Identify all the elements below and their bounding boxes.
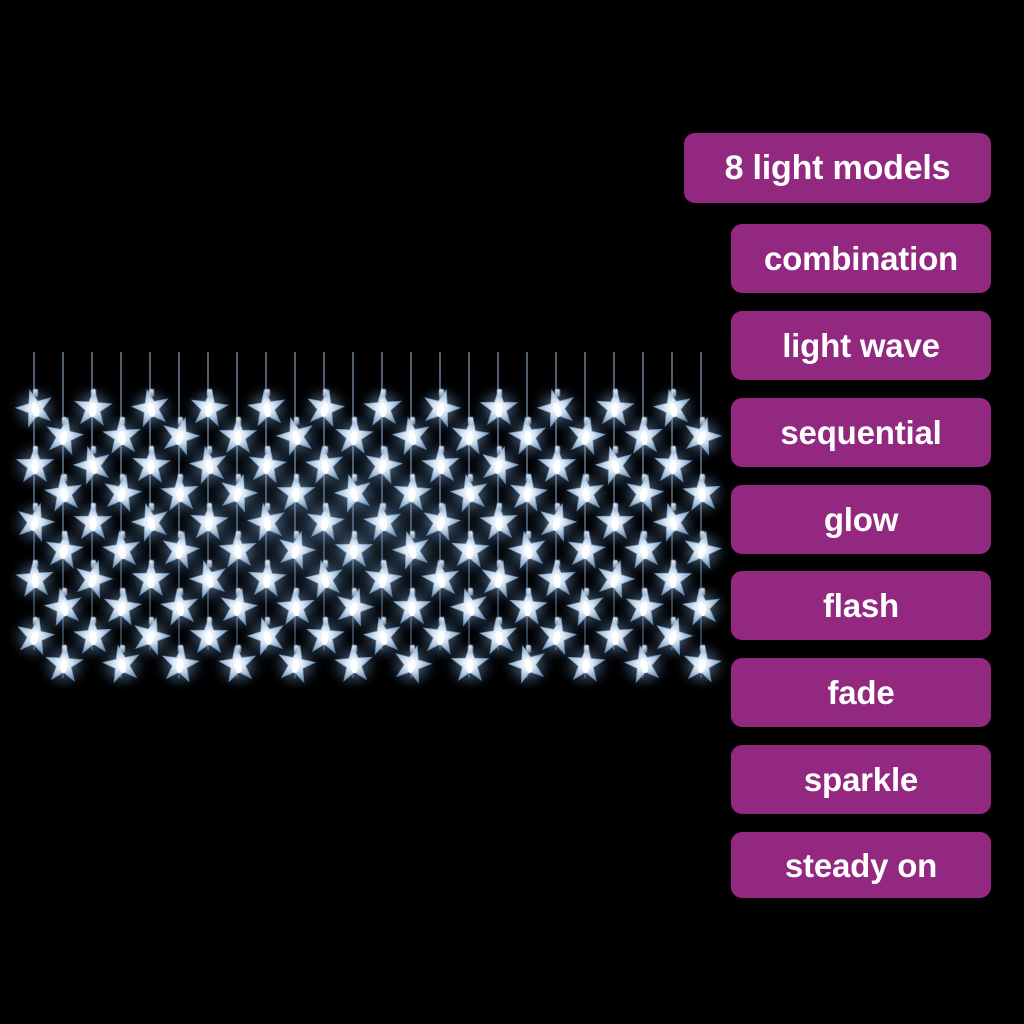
feature-pill-8-light-models: 8 light models: [684, 133, 991, 203]
feature-pill-label: 8 light models: [725, 151, 951, 185]
feature-pill-flash: flash: [731, 571, 991, 640]
feature-pill-label: light wave: [782, 329, 940, 362]
feature-pill-fade: fade: [731, 658, 991, 727]
light-mode-feature-list: 8 light modelscombinationlight waveseque…: [0, 0, 1024, 1024]
feature-pill-label: flash: [823, 589, 899, 622]
feature-pill-label: sparkle: [804, 763, 918, 796]
feature-pill-label: steady on: [785, 849, 937, 882]
feature-pill-combination: combination: [731, 224, 991, 293]
feature-pill-label: sequential: [780, 416, 941, 449]
feature-pill-sparkle: sparkle: [731, 745, 991, 814]
feature-pill-sequential: sequential: [731, 398, 991, 467]
feature-pill-label: combination: [764, 242, 958, 275]
feature-pill-glow: glow: [731, 485, 991, 554]
feature-pill-label: glow: [824, 503, 898, 536]
feature-pill-steady-on: steady on: [731, 832, 991, 898]
feature-pill-light-wave: light wave: [731, 311, 991, 380]
product-image-canvas: 8 light modelscombinationlight waveseque…: [0, 0, 1024, 1024]
feature-pill-label: fade: [827, 676, 894, 709]
